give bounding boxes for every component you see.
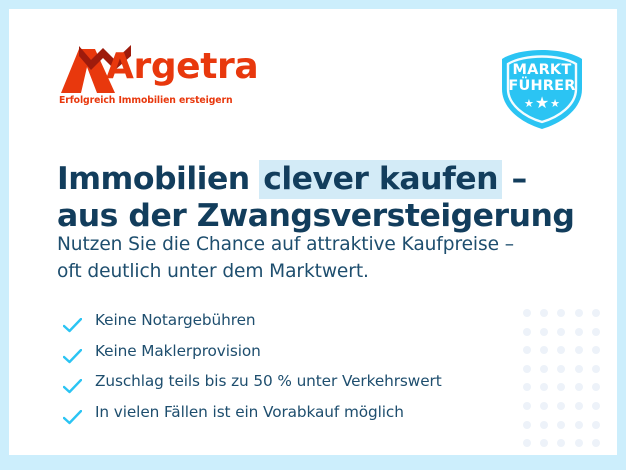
headline-text-before: Immobilien xyxy=(57,161,260,197)
dot-grid-decoration xyxy=(523,309,609,455)
list-item: Keine Notargebühren xyxy=(61,305,521,336)
dot xyxy=(557,365,565,373)
dot xyxy=(592,439,600,447)
dot xyxy=(592,328,600,336)
banner-card: Argetra Erfolgreich Immobilien ersteiger… xyxy=(9,9,617,455)
dot xyxy=(575,365,583,373)
dot xyxy=(540,402,548,410)
subheadline-line-2: oft deutlich unter dem Marktwert. xyxy=(57,258,557,285)
list-item-label: Zuschlag teils bis zu 50 % unter Verkehr… xyxy=(95,372,442,390)
star-icon: ★ xyxy=(550,98,560,110)
market-leader-badge: MARKT FÜHRER ★★★ xyxy=(496,45,588,131)
list-item-label: In vielen Fällen ist ein Vorabkauf mögli… xyxy=(95,403,404,421)
list-item-label: Keine Maklerprovision xyxy=(95,342,261,360)
logo-wordmark: Argetra xyxy=(106,44,258,90)
dot xyxy=(557,402,565,410)
dot xyxy=(575,439,583,447)
dot xyxy=(523,439,531,447)
dot xyxy=(575,402,583,410)
benefit-list: Keine Notargebühren Keine Maklerprovisio… xyxy=(61,305,521,427)
dot xyxy=(557,328,565,336)
dot xyxy=(523,309,531,317)
dot xyxy=(592,309,600,317)
dot xyxy=(523,328,531,336)
argetra-logo[interactable]: Argetra Erfolgreich Immobilien ersteiger… xyxy=(57,43,247,118)
dot xyxy=(523,383,531,391)
promo-banner: Argetra Erfolgreich Immobilien ersteiger… xyxy=(0,0,626,470)
dot xyxy=(575,346,583,354)
dot xyxy=(575,383,583,391)
dot xyxy=(523,421,531,429)
logo-tagline: Erfolgreich Immobilien ersteigern xyxy=(59,95,232,106)
check-icon xyxy=(63,344,82,359)
list-item: In vielen Fällen ist ein Vorabkauf mögli… xyxy=(61,397,521,428)
check-icon xyxy=(63,374,82,389)
dot xyxy=(540,421,548,429)
page-title: Immobilien clever kaufen – aus der Zwang… xyxy=(57,161,527,235)
check-icon xyxy=(63,313,82,328)
subheadline: Nutzen Sie die Chance auf attraktive Kau… xyxy=(57,231,557,285)
dot xyxy=(575,421,583,429)
list-item: Keine Maklerprovision xyxy=(61,336,521,367)
dot xyxy=(523,346,531,354)
dot xyxy=(540,309,548,317)
dot xyxy=(540,365,548,373)
dot xyxy=(592,365,600,373)
badge-line-2: FÜHRER xyxy=(496,79,588,95)
list-item: Zuschlag teils bis zu 50 % unter Verkehr… xyxy=(61,366,521,397)
dot xyxy=(523,365,531,373)
dot xyxy=(540,383,548,391)
star-icon: ★ xyxy=(524,98,534,110)
headline-line-2: aus der Zwangsversteigerung xyxy=(57,198,527,235)
dot xyxy=(523,402,531,410)
check-icon xyxy=(63,405,82,420)
list-item-label: Keine Notargebühren xyxy=(95,311,255,329)
dot xyxy=(575,309,583,317)
dot xyxy=(575,328,583,336)
headline-line-1: Immobilien clever kaufen – xyxy=(57,161,527,198)
dot xyxy=(557,346,565,354)
badge-stars: ★★★ xyxy=(496,97,588,111)
headline-text-after: – xyxy=(501,161,527,197)
subheadline-line-1: Nutzen Sie die Chance auf attraktive Kau… xyxy=(57,231,557,258)
dot xyxy=(540,328,548,336)
dot xyxy=(557,383,565,391)
dot xyxy=(557,421,565,429)
dot xyxy=(592,383,600,391)
star-icon: ★ xyxy=(535,95,549,112)
dot xyxy=(592,421,600,429)
badge-line-1: MARKT xyxy=(496,63,588,79)
dot xyxy=(540,439,548,447)
headline-highlight: clever kaufen xyxy=(259,160,502,199)
dot xyxy=(540,346,548,354)
dot xyxy=(557,439,565,447)
badge-text: MARKT FÜHRER xyxy=(496,63,588,94)
dot xyxy=(592,346,600,354)
dot xyxy=(557,309,565,317)
dot xyxy=(592,402,600,410)
